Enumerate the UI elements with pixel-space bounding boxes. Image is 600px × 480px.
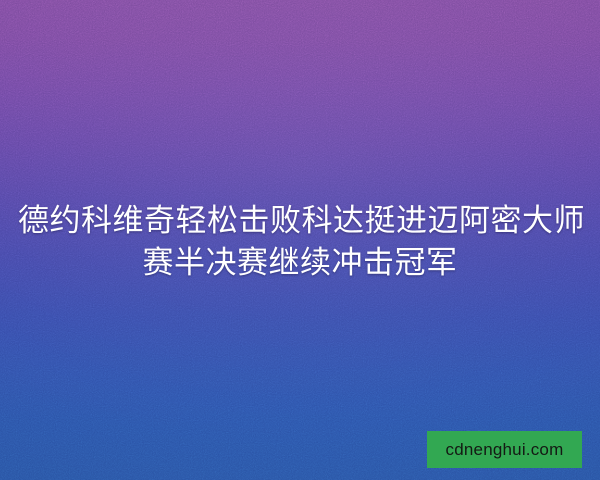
watermark-badge: cdnenghui.com [427, 431, 582, 468]
cover-image-canvas: 德约科维奇轻松击败科达挺进迈阿密大师 赛半决赛继续冲击冠军 cdnenghui.… [0, 0, 600, 480]
page-title-line-2: 赛半决赛继续冲击冠军 [18, 242, 582, 284]
page-title: 德约科维奇轻松击败科达挺进迈阿密大师 赛半决赛继续冲击冠军 [0, 200, 600, 284]
page-title-line-1: 德约科维奇轻松击败科达挺进迈阿密大师 [18, 200, 582, 242]
watermark-label: cdnenghui.com [446, 441, 564, 458]
